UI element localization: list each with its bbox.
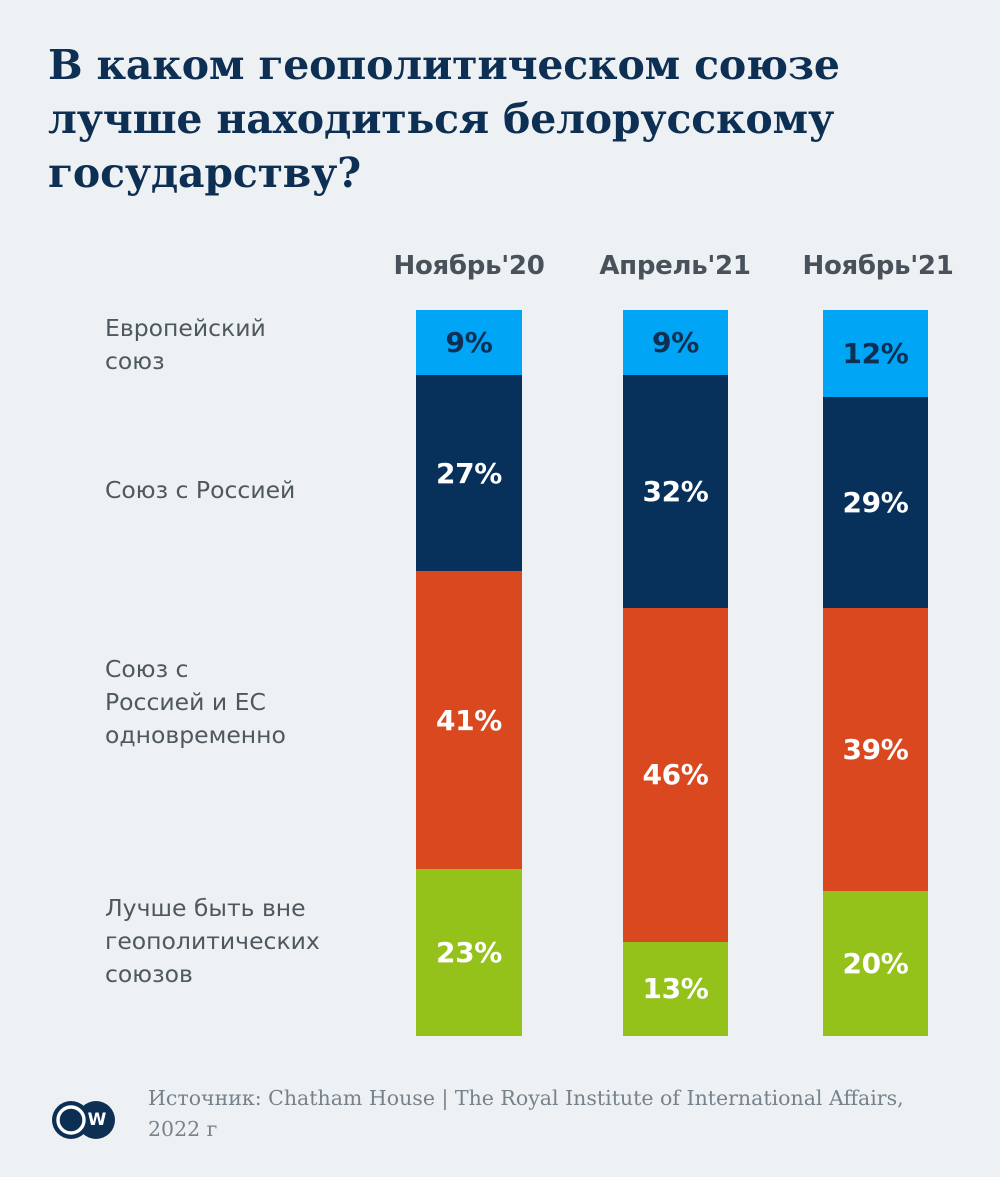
bar-column-nov21: 12%29%39%20% xyxy=(823,310,928,1036)
bar-segment-european-union: 9% xyxy=(623,310,728,375)
bar-segment-outside-alliances: 13% xyxy=(623,942,728,1036)
bar-segment-outside-alliances: 20% xyxy=(823,891,928,1036)
bar-segment-value-label: 39% xyxy=(842,733,908,766)
bar-segment-european-union: 9% xyxy=(416,310,522,375)
bar-segment-union-with-russia-and-eu: 46% xyxy=(623,608,728,942)
stacked-bar-chart: 9%27%41%23% 9%32%46%13% 12%29%39%20% xyxy=(0,0,1000,1177)
bar-segment-union-with-russia-and-eu: 41% xyxy=(416,571,522,869)
bar-segment-european-union: 12% xyxy=(823,310,928,397)
bar-segment-value-label: 41% xyxy=(436,704,502,737)
bar-segment-value-label: 20% xyxy=(842,947,908,980)
svg-text:D: D xyxy=(65,1111,77,1129)
bar-segment-value-label: 9% xyxy=(446,326,493,359)
dw-logo-icon: D W xyxy=(50,1100,118,1140)
bar-segment-value-label: 29% xyxy=(842,486,908,519)
svg-text:W: W xyxy=(88,1110,107,1130)
bar-segment-union-with-russia: 27% xyxy=(416,375,522,571)
bar-segment-union-with-russia-and-eu: 39% xyxy=(823,608,928,891)
bar-segment-value-label: 12% xyxy=(842,337,908,370)
source-note: Источник: Chatham House | The Royal Inst… xyxy=(148,1083,908,1145)
bar-segment-outside-alliances: 23% xyxy=(416,869,522,1036)
bar-segment-value-label: 13% xyxy=(642,972,708,1005)
bar-column-nov20: 9%27%41%23% xyxy=(416,310,522,1036)
bar-segment-value-label: 9% xyxy=(652,326,699,359)
bar-segment-union-with-russia: 29% xyxy=(823,397,928,608)
bar-column-apr21: 9%32%46%13% xyxy=(623,310,728,1036)
bar-segment-value-label: 23% xyxy=(436,936,502,969)
bar-segment-value-label: 46% xyxy=(642,758,708,791)
bar-segment-union-with-russia: 32% xyxy=(623,375,728,607)
bar-segment-value-label: 27% xyxy=(436,457,502,490)
bar-segment-value-label: 32% xyxy=(642,475,708,508)
